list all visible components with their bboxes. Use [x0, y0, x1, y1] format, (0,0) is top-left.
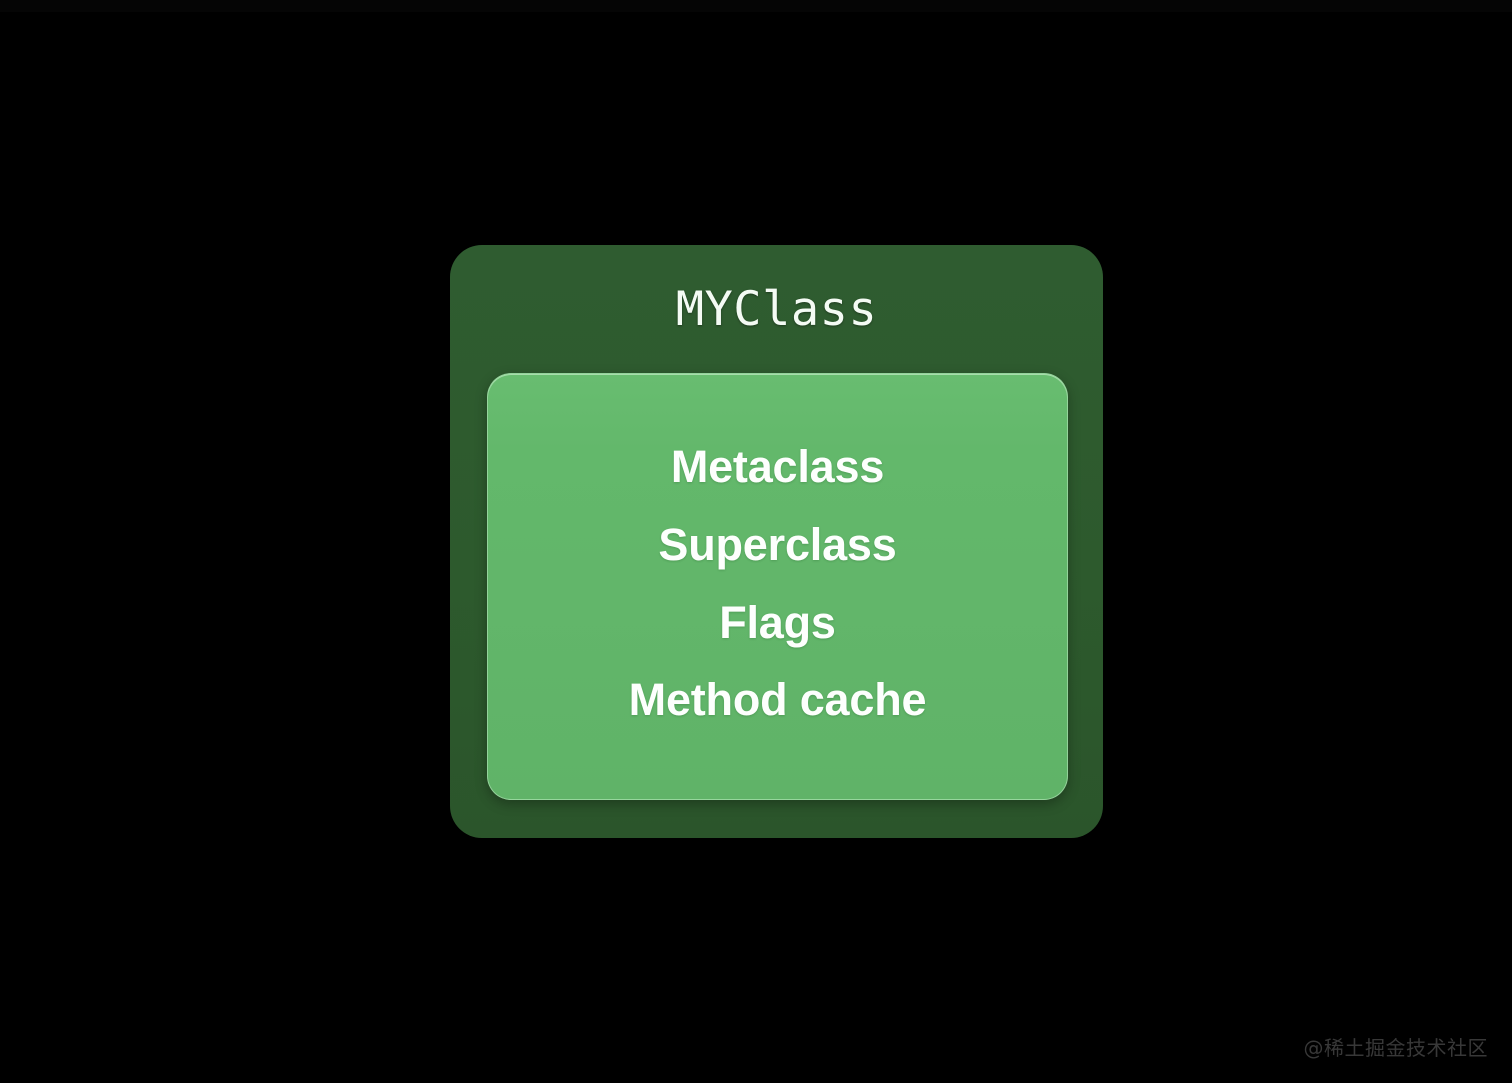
watermark-label: @稀土掘金技术社区: [1304, 1032, 1489, 1061]
field-metaclass: Metaclass: [671, 429, 884, 505]
letterbox-strip: [0, 0, 1512, 12]
class-fields-panel: Metaclass Superclass Flags Method cache: [487, 373, 1068, 800]
field-method-cache: Method cache: [629, 662, 927, 738]
class-card: MYClass Metaclass Superclass Flags Metho…: [450, 245, 1103, 838]
field-flags: Flags: [719, 585, 836, 661]
slide-canvas: MYClass Metaclass Superclass Flags Metho…: [0, 0, 1512, 1083]
class-name-title: MYClass: [450, 245, 1103, 373]
field-superclass: Superclass: [658, 507, 896, 583]
class-fields-list: Metaclass Superclass Flags Method cache: [629, 429, 927, 737]
